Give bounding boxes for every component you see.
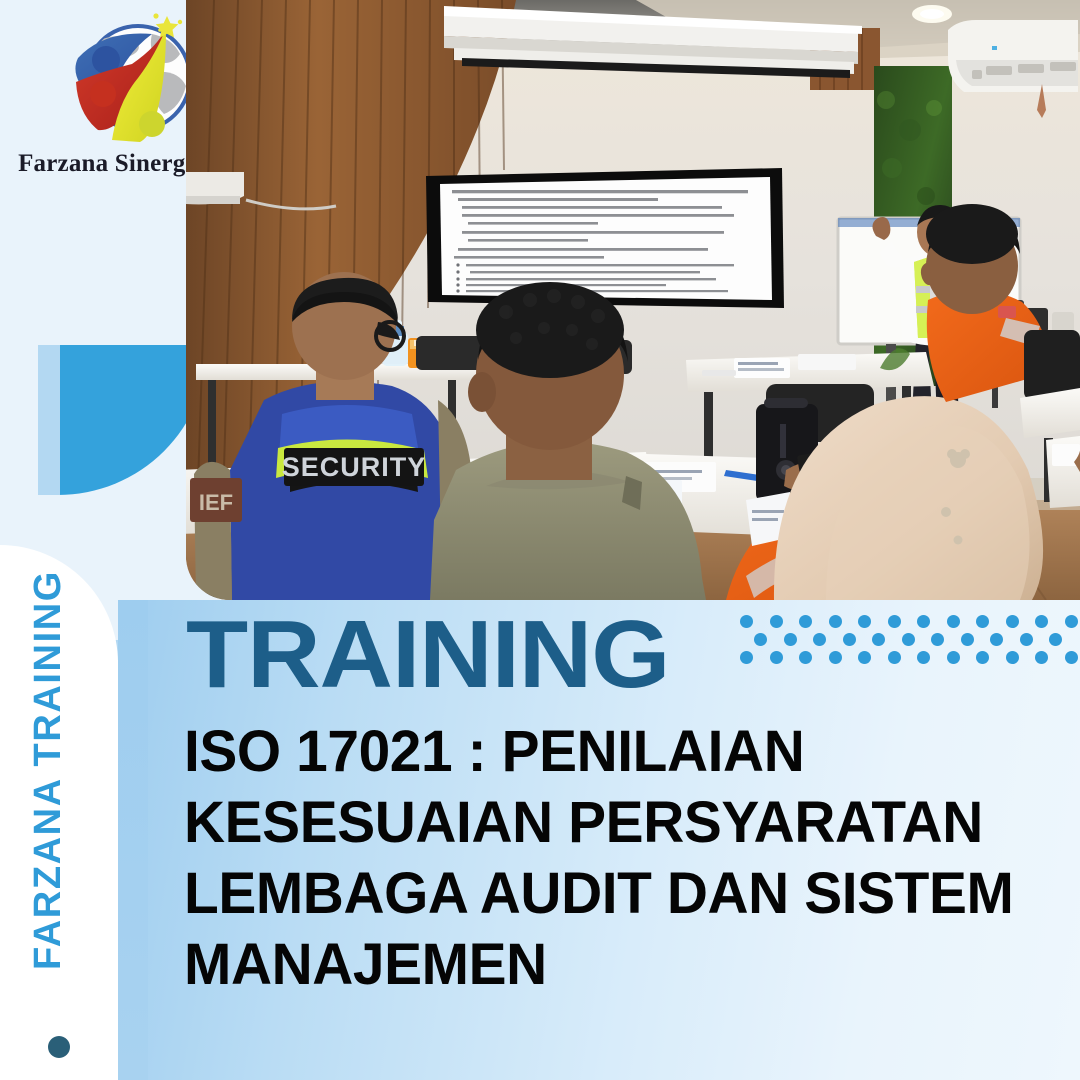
bullet-dot-icon xyxy=(48,1036,70,1058)
dot-grid-pattern-icon xyxy=(740,612,1080,674)
headline-training: TRAINING xyxy=(186,607,669,703)
poster-canvas: Farzana Sinergi Mulia FARZANA TRAINING xyxy=(0,0,1080,1080)
accent-quarter-circle-mask xyxy=(38,345,60,495)
dot-grid-row xyxy=(740,648,1080,666)
training-title-line-3: LEMBAGA AUDIT DAN SISTEM xyxy=(184,858,1046,929)
vertical-brand-label: FARZANA TRAINING xyxy=(18,540,78,1000)
dot-grid-row xyxy=(740,612,1080,630)
training-title: ISO 17021 : PENILAIAN KESESUAIAN PERSYAR… xyxy=(184,716,1046,1000)
content-panel-left-strip xyxy=(118,600,148,1080)
training-title-line-1: ISO 17021 : PENILAIAN xyxy=(184,716,1046,787)
training-title-line-4: MANAJEMEN xyxy=(184,929,1046,1000)
training-title-line-2: KESESUAIAN PERSYARATAN xyxy=(184,787,1046,858)
training-photo: SECURITY IEF xyxy=(186,0,1080,600)
dot-grid-row xyxy=(754,630,1080,648)
